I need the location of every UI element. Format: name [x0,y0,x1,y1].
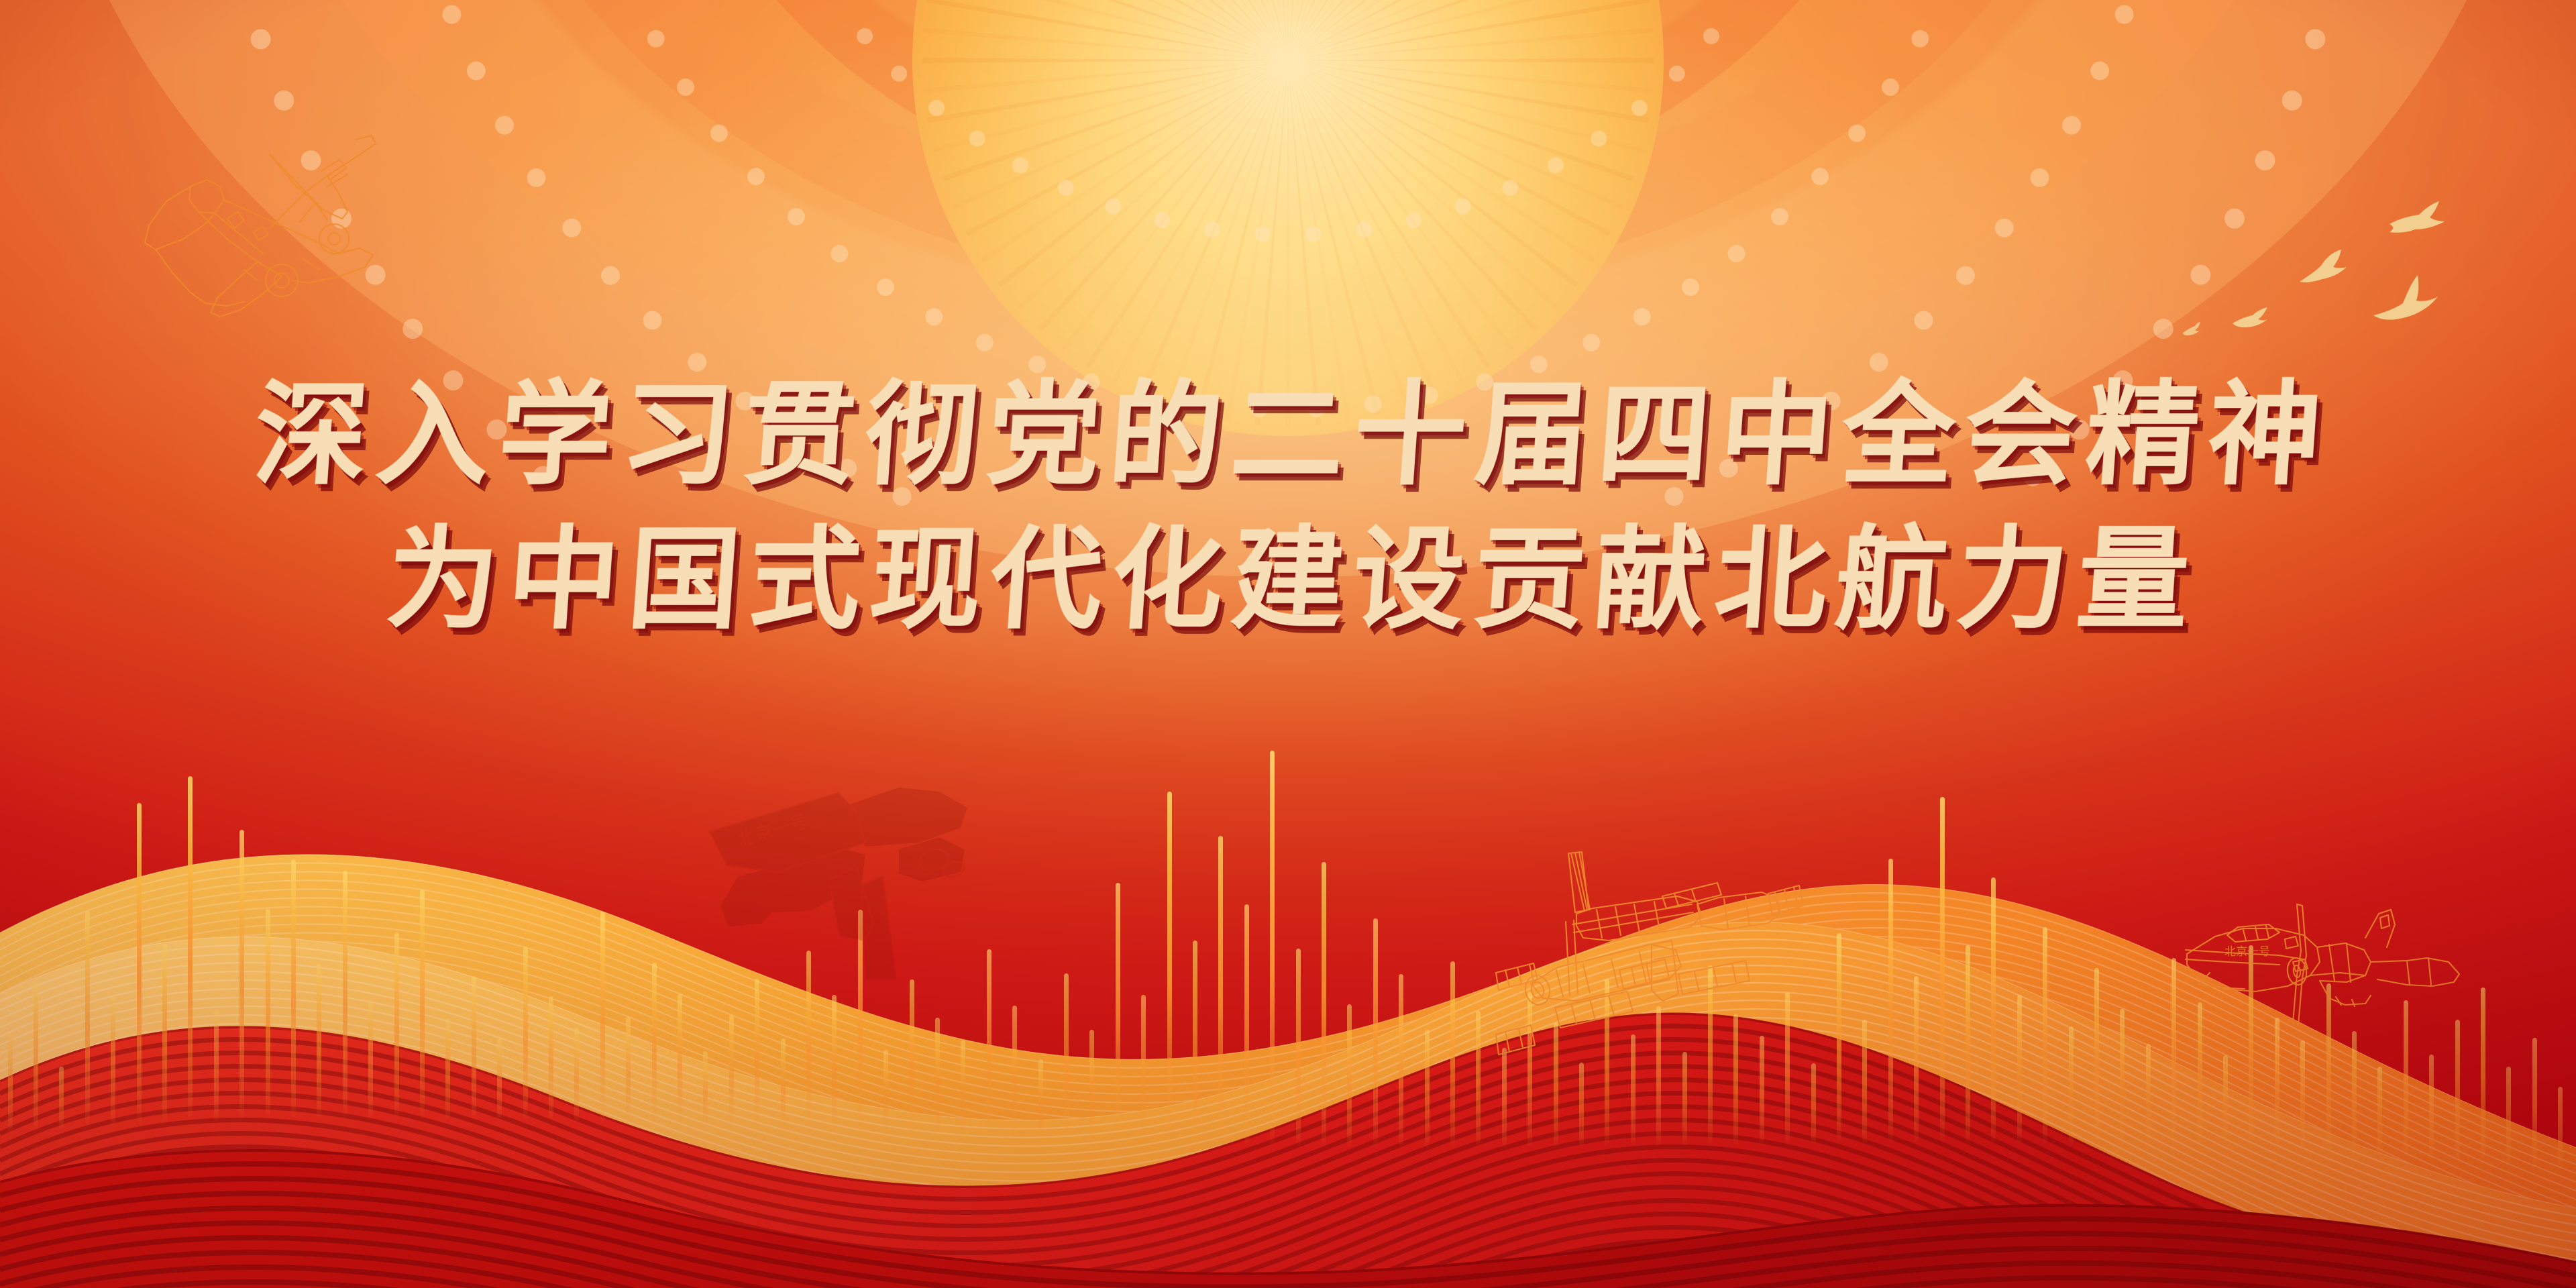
vignette [0,0,2576,1288]
poster-canvas: 北京一号 [0,0,2576,1288]
